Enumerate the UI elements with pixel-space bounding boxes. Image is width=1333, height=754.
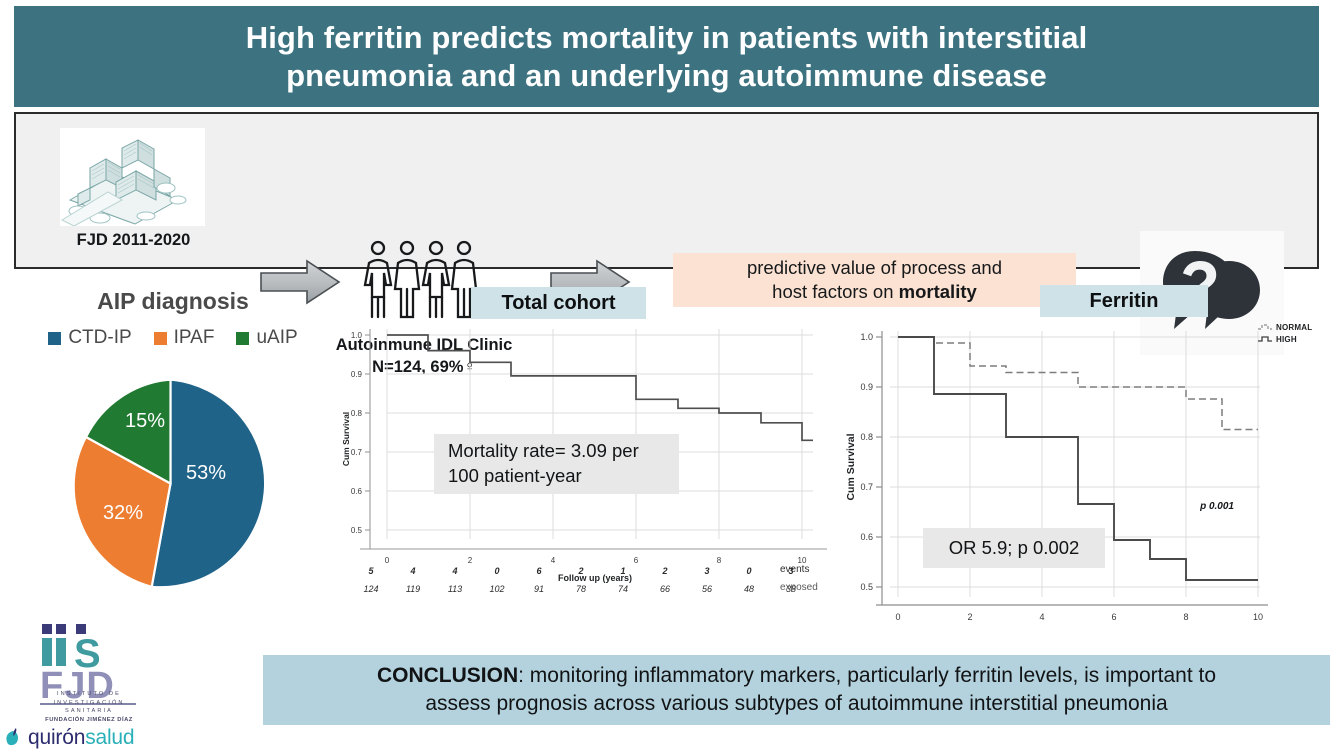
iis-sub-line1: INSTITUTO DE bbox=[28, 690, 150, 699]
pie-value-ctd-ip: 53% bbox=[186, 462, 226, 484]
svg-text:0.8: 0.8 bbox=[351, 409, 363, 418]
legend-solid-line-icon bbox=[1257, 334, 1273, 344]
risk-row-label-events: events bbox=[780, 564, 809, 575]
odds-ratio-annotation: OR 5.9; p 0.002 bbox=[923, 528, 1105, 568]
svg-text:2: 2 bbox=[468, 556, 473, 565]
events-cell: 2 bbox=[644, 566, 686, 576]
pie-value-uaip: 15% bbox=[125, 410, 165, 432]
svg-text:2: 2 bbox=[967, 612, 972, 622]
exposed-cell: 91 bbox=[518, 584, 560, 594]
legend-item-ipaf: IPAF bbox=[154, 327, 215, 349]
events-cell: 3 bbox=[686, 566, 728, 576]
svg-text:0.7: 0.7 bbox=[860, 482, 873, 492]
svg-text:0.9: 0.9 bbox=[860, 382, 873, 392]
total-cohort-chart-panel: Total cohort bbox=[340, 283, 840, 618]
events-cell: 0 bbox=[476, 566, 518, 576]
poster-title-line2: pneumonia and an underlying autoimmune d… bbox=[286, 58, 1047, 93]
legend-label-ctd-ip: CTD-IP bbox=[68, 327, 131, 349]
exposed-cell: 56 bbox=[686, 584, 728, 594]
svg-text:0.5: 0.5 bbox=[351, 526, 363, 535]
conclusion-banner: CONCLUSION: monitoring inflammatory mark… bbox=[263, 655, 1330, 725]
events-cell: 1 bbox=[602, 566, 644, 576]
graphical-abstract-poster: High ferritin predicts mortality in pati… bbox=[0, 0, 1333, 754]
svg-text:0: 0 bbox=[895, 612, 900, 622]
legend-label-uaip: uAIP bbox=[256, 327, 297, 349]
legend-swatch-uaip bbox=[236, 332, 249, 345]
events-cell: 4 bbox=[392, 566, 434, 576]
poster-title-line1: High ferritin predicts mortality in pati… bbox=[246, 20, 1088, 55]
svg-text:0.8: 0.8 bbox=[860, 432, 873, 442]
km-step-curve-total bbox=[387, 335, 813, 440]
legend-swatch-ctd-ip bbox=[48, 332, 61, 345]
conclusion-label: CONCLUSION bbox=[377, 664, 518, 687]
y-axis-label: Cum Survival bbox=[845, 433, 857, 500]
iis-sub-line2: INVESTIGACIÓN bbox=[28, 699, 150, 708]
objective-line1: predictive value of process and bbox=[747, 257, 1002, 278]
events-cell: 2 bbox=[560, 566, 602, 576]
legend-swatch-ipaf bbox=[154, 332, 167, 345]
ferritin-pvalue: p 0.001 bbox=[1199, 501, 1234, 512]
legend-label-normal: NORMAL bbox=[1276, 323, 1312, 332]
svg-text:0.5: 0.5 bbox=[860, 582, 873, 592]
svg-text:4: 4 bbox=[1039, 612, 1044, 622]
pie-chart-title: AIP diagnosis bbox=[8, 288, 338, 315]
hospital-caption: FJD 2011-2020 bbox=[46, 231, 221, 250]
ferritin-km-plot: 1.00.90.8 0.70.60.5 024 6810 Cum Surviva… bbox=[840, 309, 1280, 629]
exposed-cell: 74 bbox=[602, 584, 644, 594]
mortality-rate-text: Mortality rate= 3.09 per 100 patient-yea… bbox=[448, 439, 639, 489]
conclusion-part1: : monitoring inflammatory markers, parti… bbox=[518, 664, 1216, 687]
poster-title: High ferritin predicts mortality in pati… bbox=[246, 19, 1088, 95]
svg-text:8: 8 bbox=[717, 556, 722, 565]
conclusion-part2: assess prognosis across various subtypes… bbox=[425, 692, 1167, 715]
y-axis-label: Cum Survival bbox=[341, 412, 351, 466]
hospital-building-icon bbox=[60, 128, 205, 226]
svg-text:4: 4 bbox=[551, 556, 556, 565]
quironsalud-logo: quirónsalud bbox=[2, 726, 134, 750]
quiron-leaf-icon bbox=[2, 726, 26, 750]
svg-text:0.7: 0.7 bbox=[351, 448, 363, 457]
quiron-part1: quirón bbox=[28, 726, 85, 749]
iis-fjd-subtitle: INSTITUTO DE INVESTIGACIÓN SANITARIA FUN… bbox=[28, 690, 150, 725]
iis-sub-line4: FUNDACIÓN JIMÉNEZ DÍAZ bbox=[28, 716, 150, 725]
events-cell: 5 bbox=[350, 566, 392, 576]
legend-label-high: HIGH bbox=[1276, 335, 1297, 344]
risk-row-events: 5 4 4 0 6 2 1 2 3 0 3 bbox=[350, 566, 812, 576]
legend-item-high: HIGH bbox=[1257, 333, 1329, 345]
legend-item-uaip: uAIP bbox=[236, 327, 297, 349]
events-cell: 0 bbox=[728, 566, 770, 576]
legend-item-normal: NORMAL bbox=[1257, 321, 1329, 333]
iis-sub-line3: SANITARIA bbox=[28, 707, 150, 716]
svg-text:0: 0 bbox=[385, 556, 390, 565]
mortality-rate-annotation: Mortality rate= 3.09 per 100 patient-yea… bbox=[434, 434, 679, 494]
svg-text:0.6: 0.6 bbox=[351, 487, 363, 496]
exposed-cell: 78 bbox=[560, 584, 602, 594]
svg-text:6: 6 bbox=[634, 556, 639, 565]
exposed-cell: 124 bbox=[350, 584, 392, 594]
ferritin-legend: NORMAL HIGH bbox=[1257, 321, 1329, 345]
svg-text:1.0: 1.0 bbox=[860, 332, 873, 342]
risk-row-label-exposed: exposed bbox=[780, 582, 818, 593]
svg-text:0.9: 0.9 bbox=[351, 370, 363, 379]
quiron-wordmark: quirónsalud bbox=[28, 726, 134, 750]
exposed-cell: 66 bbox=[644, 584, 686, 594]
poster-title-banner: High ferritin predicts mortality in pati… bbox=[14, 6, 1319, 107]
risk-row-exposed: 124 119 113 102 91 78 74 66 56 48 38 bbox=[350, 584, 812, 594]
svg-text:1.0: 1.0 bbox=[351, 331, 363, 340]
svg-text:6: 6 bbox=[1111, 612, 1116, 622]
pie-value-ipaf: 32% bbox=[103, 502, 143, 524]
events-cell: 4 bbox=[434, 566, 476, 576]
km-step-curve-normal bbox=[898, 337, 1258, 430]
pie-chart: 53% 32% 15% bbox=[63, 376, 278, 591]
svg-text:8: 8 bbox=[1183, 612, 1188, 622]
odds-ratio-text: OR 5.9; p 0.002 bbox=[949, 536, 1080, 561]
legend-label-ipaf: IPAF bbox=[174, 327, 215, 349]
conclusion-text: CONCLUSION: monitoring inflammatory mark… bbox=[377, 662, 1216, 719]
exposed-cell: 119 bbox=[392, 584, 434, 594]
svg-text:10: 10 bbox=[1253, 612, 1263, 622]
exposed-cell: 102 bbox=[476, 584, 518, 594]
ferritin-chart-panel: Ferritin bbox=[840, 283, 1333, 628]
events-cell: 6 bbox=[518, 566, 560, 576]
pie-legend: CTD-IP IPAF uAIP bbox=[8, 327, 338, 349]
exposed-cell: 48 bbox=[728, 584, 770, 594]
legend-dashed-line-icon bbox=[1257, 322, 1273, 332]
quiron-part2: salud bbox=[85, 726, 134, 749]
svg-text:0.6: 0.6 bbox=[860, 532, 873, 542]
aip-diagnosis-pie-panel: AIP diagnosis CTD-IP IPAF uAIP bbox=[8, 283, 338, 613]
legend-item-ctd-ip: CTD-IP bbox=[48, 327, 131, 349]
methods-strip: FJD 2011-2020 bbox=[14, 112, 1319, 269]
exposed-cell: 113 bbox=[434, 584, 476, 594]
